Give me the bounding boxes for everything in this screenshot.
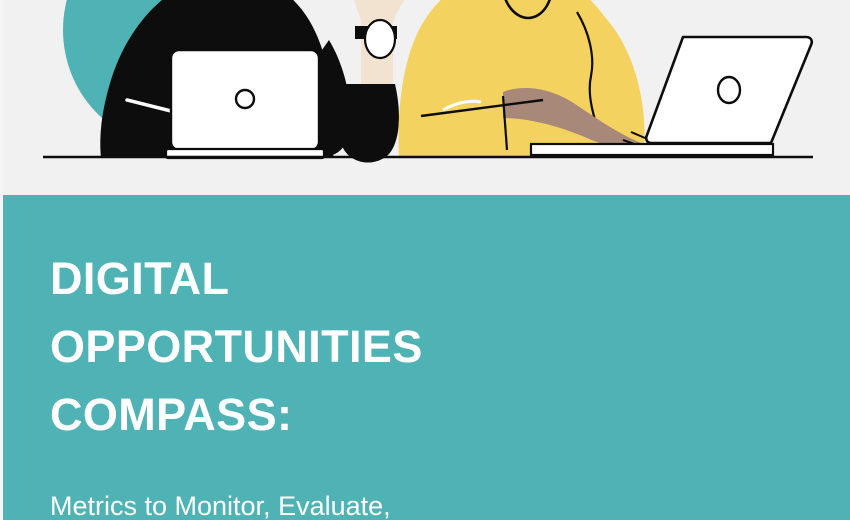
page-subtitle: Metrics to Monitor, Evaluate, [50,449,570,520]
title-block: DIGITAL OPPORTUNITIES COMPASS: Metrics t… [50,245,570,520]
watch-face [365,20,395,58]
two-people-at-laptops-illustration [3,0,850,195]
person-right [399,0,659,158]
illustration-panel [3,0,850,195]
page-title-line-2: OPPORTUNITIES [50,313,570,381]
title-band: DIGITAL OPPORTUNITIES COMPASS: Metrics t… [3,195,850,520]
person-left-leg [338,84,399,163]
laptop-right-logo-icon [718,77,740,103]
page-title-line-3: COMPASS: [50,381,570,449]
page-title: DIGITAL OPPORTUNITIES COMPASS: [50,245,570,449]
laptop-left-logo-icon [236,90,254,108]
laptop-left [166,50,324,158]
page-title-line-1: DIGITAL [50,245,570,313]
laptop-right-base [531,144,773,155]
poster-slide: DIGITAL OPPORTUNITIES COMPASS: Metrics t… [0,0,850,520]
